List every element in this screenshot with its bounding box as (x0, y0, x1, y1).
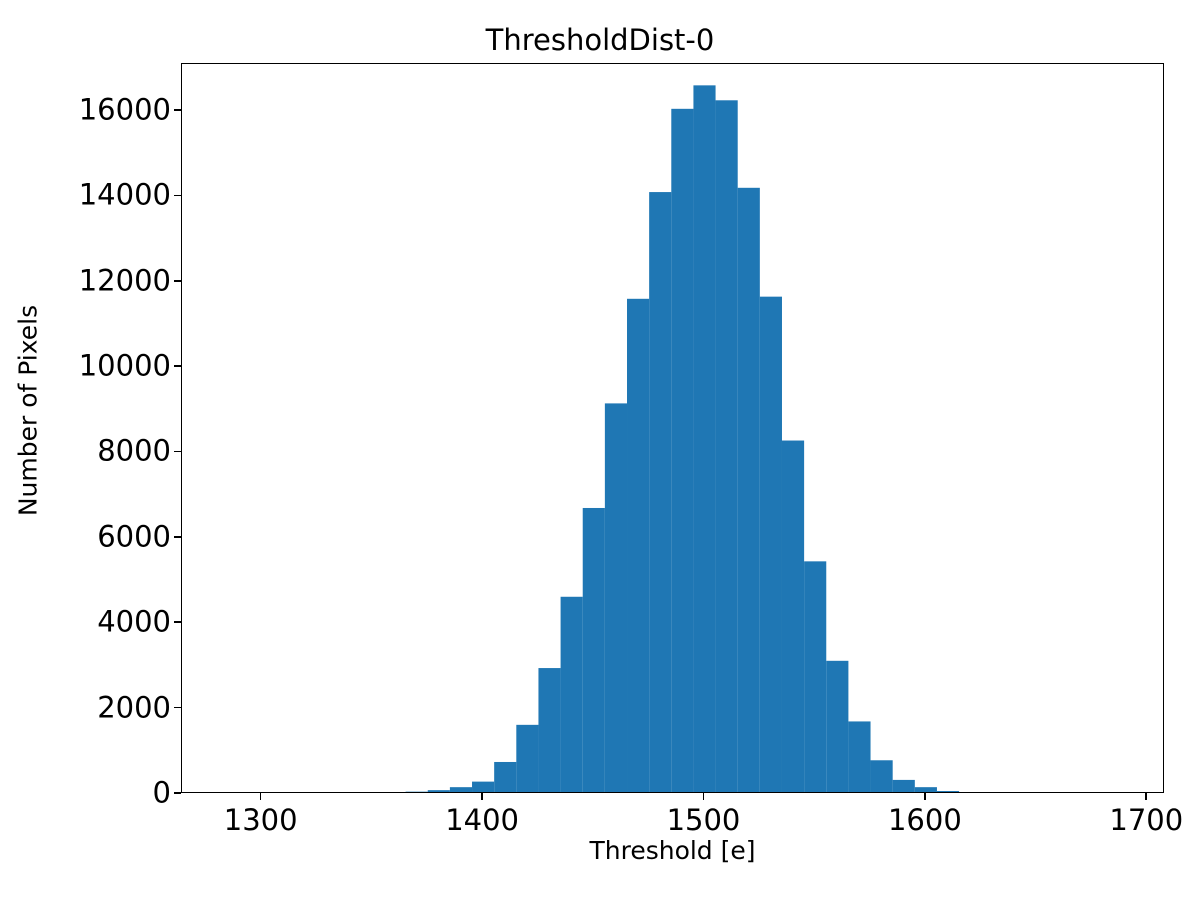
histogram-bar (450, 787, 472, 792)
y-tick-mark (174, 109, 181, 111)
chart-title: ThresholdDist-0 (0, 26, 1200, 55)
histogram-bar (915, 787, 937, 792)
histogram-bar (716, 100, 738, 792)
x-tick-label: 1500 (667, 806, 741, 835)
x-tick-mark (703, 793, 705, 800)
histogram-bar (538, 668, 560, 792)
histogram-bar (516, 725, 538, 792)
x-tick-mark (924, 793, 926, 800)
y-tick-mark (174, 707, 181, 709)
y-tick-label: 2000 (0, 693, 171, 722)
histogram-bar (871, 760, 893, 792)
histogram-bar (937, 791, 959, 792)
y-tick-label: 4000 (0, 608, 171, 637)
histogram-bar (583, 508, 605, 792)
y-tick-label: 16000 (0, 95, 171, 124)
y-tick-mark (174, 792, 181, 794)
histogram-figure: ThresholdDist-0 13001400150016001700 020… (0, 0, 1200, 900)
histogram-bar (561, 597, 583, 792)
plot-axes (181, 63, 1164, 793)
y-tick-mark (174, 365, 181, 367)
y-tick-label: 0 (0, 779, 171, 808)
y-tick-label: 14000 (0, 181, 171, 210)
y-tick-mark (174, 451, 181, 453)
x-tick-mark (481, 793, 483, 800)
y-tick-mark (174, 280, 181, 282)
histogram-bar (605, 403, 627, 792)
histogram-bar (804, 561, 826, 792)
y-tick-mark (174, 621, 181, 623)
histogram-bar (494, 762, 516, 792)
y-axis-label: Number of Pixels (16, 231, 41, 591)
histogram-bar (893, 780, 915, 792)
x-axis-label: Threshold [e] (181, 838, 1164, 863)
histogram-bar (826, 661, 848, 792)
histogram-bar (738, 188, 760, 792)
x-tick-label: 1600 (888, 806, 962, 835)
x-tick-label: 1400 (445, 806, 519, 835)
x-tick-label: 1300 (224, 806, 298, 835)
x-tick-mark (1145, 793, 1147, 800)
x-tick-label: 1700 (1109, 806, 1183, 835)
histogram-bar (760, 297, 782, 792)
y-tick-mark (174, 536, 181, 538)
x-tick-mark (260, 793, 262, 800)
histogram-bar (671, 109, 693, 792)
histogram-bar (848, 721, 870, 792)
histogram-bar (782, 441, 804, 792)
histogram-bar (649, 192, 671, 792)
plot-surface (182, 64, 1163, 792)
histogram-bars (182, 64, 1163, 792)
y-tick-mark (174, 195, 181, 197)
histogram-bar (472, 782, 494, 792)
histogram-bar (627, 299, 649, 792)
histogram-bar (693, 85, 715, 792)
histogram-bar (428, 790, 450, 792)
